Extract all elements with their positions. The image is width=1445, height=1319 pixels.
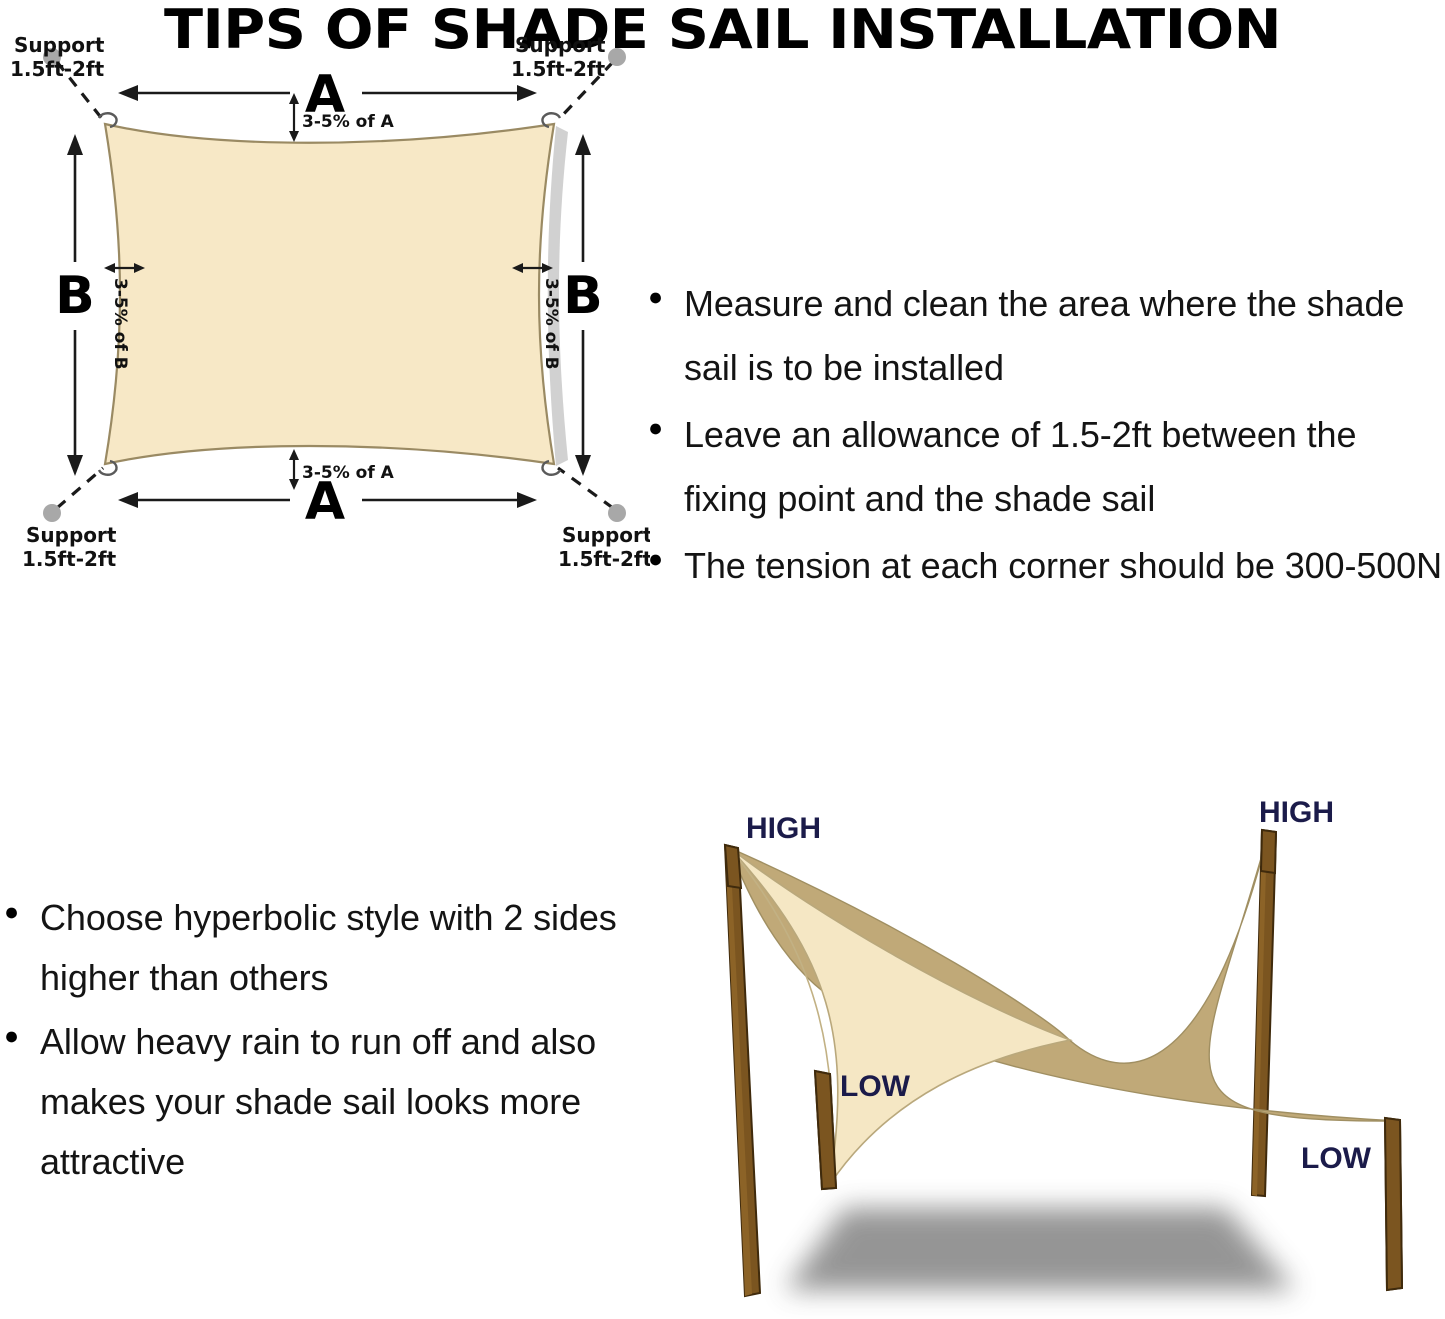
list-item: ● The tension at each corner should be 3… [648,534,1445,598]
support-label-top-right-line1: Support [515,33,606,57]
hyperbolic-sail-svg: HIGH HIGH LOW LOW [640,778,1445,1319]
curve-tolerance-right-label: 3-5% of B [541,278,561,370]
list-item: ● Allow heavy rain to run off and also m… [4,1012,634,1192]
tips-list-installation: ● Measure and clean the area where the s… [648,272,1445,601]
pole-high-left [725,845,760,1296]
tip-text: Leave an allowance of 1.5-2ft between th… [684,403,1445,531]
rect-sail-svg: A 3-5% of A A 3-5% o [0,0,650,590]
support-label-bottom-right-line1: Support [562,523,650,547]
support-label-top-right-line2: 1.5ft-2ft [511,57,606,81]
tip-text: The tension at each corner should be 300… [684,534,1445,598]
label-low-right: LOW [1301,1142,1372,1175]
pole-high-right [1252,830,1276,1196]
bullet-dot-icon: ● [4,888,40,925]
curve-tolerance-top-label: 3-5% of A [302,112,395,132]
list-item: ● Measure and clean the area where the s… [648,272,1445,400]
dimension-height-left: B [55,134,95,476]
bullet-dot-icon: ● [648,534,684,572]
support-label-top-right: Support 1.5ft-2ft [511,33,606,81]
tips-list-hyperbolic: ● Choose hyperbolic style with 2 sides h… [4,888,634,1196]
bullet-dot-icon: ● [648,403,684,441]
hyperbolic-sail-diagram: HIGH HIGH LOW LOW [640,778,1445,1319]
label-low-left: LOW [840,1070,911,1103]
dimension-height-right: B [563,134,603,476]
dimension-label-b-right: B [563,266,603,326]
dimension-label-b-left: B [55,266,95,326]
rect-sail-diagram: A 3-5% of A A 3-5% o [0,0,650,590]
support-label-top-left: Support 1.5ft-2ft [10,33,105,81]
sail-body [105,124,554,464]
infographic-page: TIPS OF SHADE SAIL INSTALLATION [0,0,1445,1319]
bullet-dot-icon: ● [648,272,684,310]
support-label-top-left-line1: Support [14,33,105,57]
tip-text: Allow heavy rain to run off and also mak… [40,1012,634,1192]
ground-shadow [785,1208,1295,1290]
tip-text: Measure and clean the area where the sha… [684,272,1445,400]
list-item: ● Choose hyperbolic style with 2 sides h… [4,888,634,1008]
support-label-top-left-line2: 1.5ft-2ft [10,57,105,81]
curve-tolerance-bottom-label: 3-5% of A [302,463,395,483]
label-high-right: HIGH [1259,796,1334,829]
support-label-bottom-left-line1: Support [26,523,117,547]
support-label-bottom-left-line2: 1.5ft-2ft [22,547,117,571]
support-label-bottom-right: Support 1.5ft-2ft [558,523,650,571]
list-item: ● Leave an allowance of 1.5-2ft between … [648,403,1445,531]
curve-tolerance-left-label: 3-5% of B [110,278,130,370]
support-label-bottom-left: Support 1.5ft-2ft [22,523,117,571]
support-label-bottom-right-line2: 1.5ft-2ft [558,547,650,571]
tip-text: Choose hyperbolic style with 2 sides hig… [40,888,634,1008]
label-high-left: HIGH [746,812,821,845]
bullet-dot-icon: ● [4,1012,40,1049]
